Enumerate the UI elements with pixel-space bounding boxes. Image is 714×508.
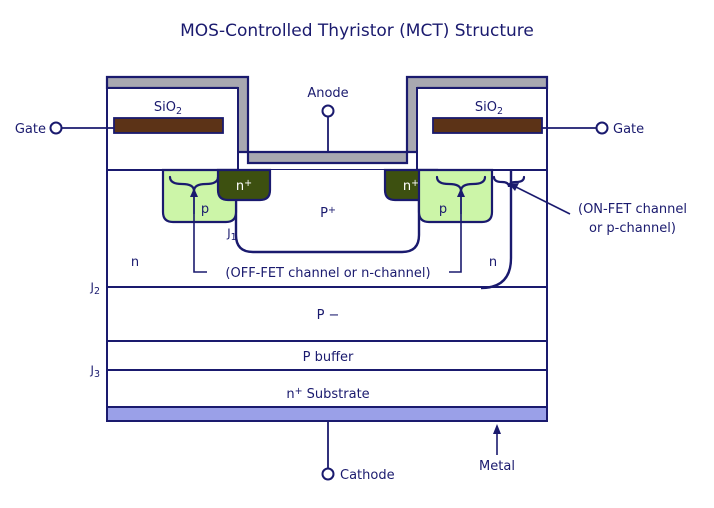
gate-terminal-right[interactable]	[542, 123, 608, 134]
gate-terminal-left-node[interactable]	[51, 123, 62, 134]
cathode-metal-contact	[107, 407, 547, 421]
p-well-left-label: p	[201, 202, 209, 217]
anode-label: Anode	[307, 86, 348, 101]
on-fet-annotation-line2: or p-channel)	[589, 221, 676, 236]
metal-callout-leader	[493, 424, 501, 455]
gate-label-right: Gate	[613, 122, 644, 137]
cathode-terminal-node[interactable]	[323, 469, 334, 480]
anode-terminal-node[interactable]	[323, 106, 334, 117]
gate-terminal-left[interactable]	[51, 123, 115, 134]
anode-terminal[interactable]	[323, 106, 334, 153]
n-region-label-left: n	[131, 255, 139, 270]
gate-electrode-right	[433, 118, 542, 133]
metal-annotation: Metal	[479, 459, 515, 474]
gate-electrode-left	[114, 118, 223, 133]
junction-j3-label: J3	[90, 363, 100, 380]
junction-j2-label: J2	[90, 280, 100, 297]
diagram-canvas: MOS-Controlled Thyristor (MCT) Structure…	[0, 0, 714, 508]
gate-terminal-right-node[interactable]	[597, 123, 608, 134]
n-region-label-right: n	[489, 255, 497, 270]
gate-label-left: Gate	[15, 122, 46, 137]
off-fet-channel-annotation: (OFF-FET channel or n-channel)	[225, 266, 430, 281]
p-well-right-label: p	[439, 202, 447, 217]
page-title: MOS-Controlled Thyristor (MCT) Structure	[180, 21, 534, 41]
on-fet-annotation-line1: (ON-FET channel	[578, 202, 687, 217]
cathode-terminal[interactable]	[323, 421, 334, 480]
p-well-right	[419, 170, 492, 222]
cathode-label: Cathode	[340, 468, 395, 483]
mct-structure-diagram: MOS-Controlled Thyristor (MCT) Structure…	[0, 0, 714, 508]
p-minus-label: P −	[317, 308, 340, 323]
p-buffer-label: P buffer	[303, 350, 354, 365]
